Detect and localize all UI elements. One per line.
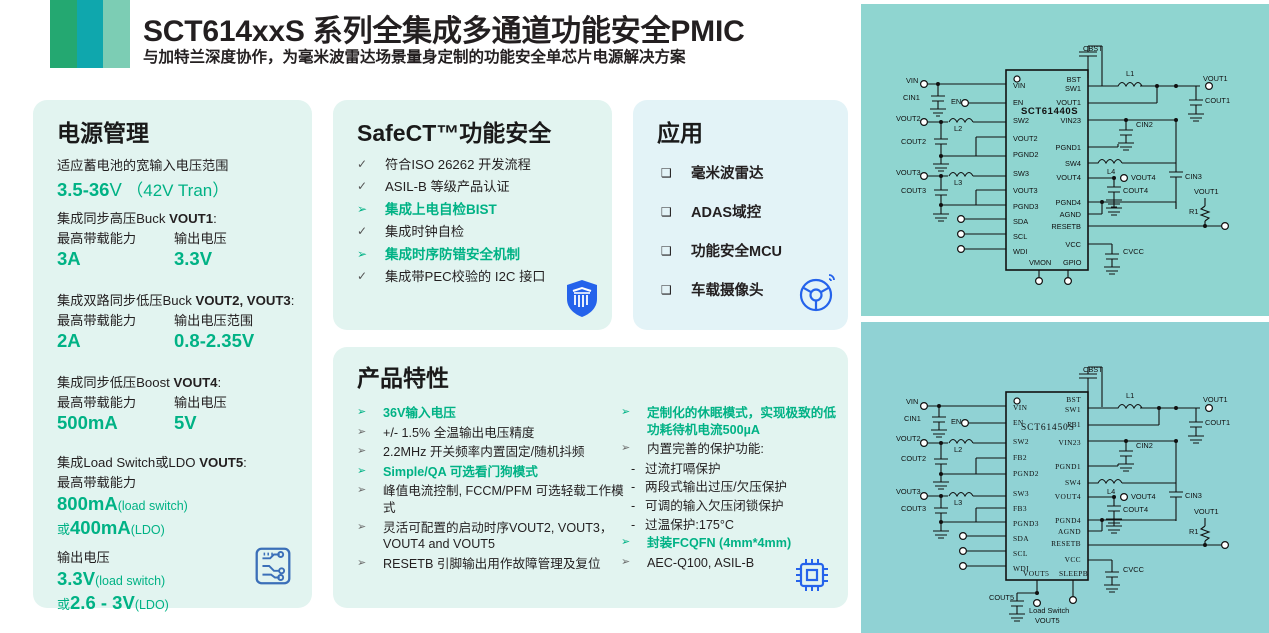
list-item[interactable]: ➢定制化的休眠模式，实现极致的低功耗待机电流500µA — [621, 405, 843, 438]
power-block-vout23-heading-tail: : — [291, 293, 295, 308]
svg-text:VCC: VCC — [1065, 555, 1081, 564]
svg-text:VIN: VIN — [906, 76, 918, 85]
power-vout1-col1-value: 3A — [57, 248, 174, 270]
sub-item-label: 过温保护:175°C — [645, 517, 734, 534]
svg-text:COUT4: COUT4 — [1123, 505, 1148, 514]
power-vout23-col2-value: 0.8-2.35V — [174, 330, 304, 352]
list-item-marker-icon: ✓ — [357, 223, 385, 239]
power-vout5-voltage-2-prefix: 或 — [57, 597, 70, 612]
svg-text:PGND4: PGND4 — [1055, 516, 1081, 525]
svg-text:VOUT1: VOUT1 — [1194, 187, 1219, 196]
sub-item-label: 可调的输入欠压闭锁保护 — [645, 498, 784, 515]
list-item-marker-icon: ➢ — [357, 405, 383, 420]
power-block-vout1-heading-tail: : — [213, 211, 217, 226]
svg-text:VOUT3: VOUT3 — [896, 168, 921, 177]
chip-icon — [792, 555, 832, 600]
list-item-marker-icon: ➢ — [621, 555, 647, 570]
power-vout5-current-1-value: 800mA — [57, 493, 118, 514]
power-block-vout5-heading-tail: : — [243, 455, 247, 470]
svg-text:SW4: SW4 — [1065, 159, 1081, 168]
list-item-marker-icon: ➢ — [621, 405, 647, 420]
power-vout5-current-2: 或400mA(LDO) — [57, 517, 307, 539]
svg-text:VOUT1: VOUT1 — [1056, 98, 1081, 107]
power-vout5-voltage-2-value: 2.6 - 3V — [70, 592, 135, 613]
power-vout5-current-1-note: (load switch) — [118, 499, 188, 513]
power-input-range-unit: V — [109, 179, 121, 200]
power-vout5-voltage-1-note: (load switch) — [95, 574, 165, 588]
list-item-marker-icon: ✓ — [357, 156, 385, 172]
sub-item-marker: - — [631, 461, 645, 478]
list-item[interactable]: ➢集成时序防错安全机制 — [357, 246, 597, 264]
svg-text:COUT4: COUT4 — [1123, 186, 1148, 195]
list-item-label: 2.2MHz 开关频率内置固定/随机抖频 — [383, 444, 585, 461]
power-block-vout4: 集成同步低压Boost VOUT4: 最高带载能力 输出电压 500mA 5V — [57, 372, 307, 434]
page-title: SCT614xxS 系列全集成多通道功能安全PMIC — [143, 6, 843, 50]
power-block-vout23-heading: 集成双路同步低压Buck VOUT2, VOUT3: — [57, 290, 307, 309]
list-item[interactable]: ❑功能安全MCU — [661, 240, 841, 261]
svg-text:L4: L4 — [1107, 487, 1115, 496]
svg-text:COUT1: COUT1 — [1205, 418, 1230, 427]
list-item-label: 灵活可配置的启动时序VOUT2, VOUT3，VOUT4 and VOUT5 — [383, 520, 625, 553]
safect-list: ✓符合ISO 26262 开发流程✓ASIL-B 等级产品认证➢集成上电自检BI… — [357, 156, 597, 291]
list-item-label: 集成上电自检BIST — [385, 201, 497, 219]
schematic-sct61440s: SCT61440S VIN EN SW2 VOUT2 PGND2 SW3 VOU… — [861, 4, 1269, 316]
power-vout5-current-2-note: (LDO) — [131, 523, 165, 537]
list-item-marker-icon: ❑ — [661, 205, 691, 219]
list-item[interactable]: ❑ADAS域控 — [661, 201, 841, 222]
svg-text:CIN1: CIN1 — [904, 414, 921, 423]
svg-text:FB3: FB3 — [1013, 504, 1027, 513]
list-item[interactable]: ➢RESETB 引脚输出用作故障管理及复位 — [357, 556, 625, 573]
accent-bar-1 — [50, 0, 77, 68]
power-block-vout5-heading-bold: VOUT5 — [199, 455, 243, 470]
svg-text:COUT2: COUT2 — [901, 137, 926, 146]
list-item[interactable]: ✓符合ISO 26262 开发流程 — [357, 156, 597, 174]
svg-text:SCL: SCL — [1013, 232, 1027, 241]
svg-text:EN: EN — [951, 417, 961, 426]
power-block-vout4-heading-bold: VOUT4 — [174, 375, 218, 390]
power-vout4-col1-value: 500mA — [57, 412, 174, 434]
list-item[interactable]: ➢封装FCQFN (4mm*4mm) — [621, 535, 843, 552]
list-item-marker-icon: ✓ — [357, 178, 385, 194]
svg-text:L3: L3 — [954, 178, 962, 187]
svg-text:FB1: FB1 — [1067, 420, 1081, 429]
features-panel-title: 产品特性 — [357, 359, 449, 393]
list-item[interactable]: ➢2.2MHz 开关频率内置固定/随机抖频 — [357, 444, 625, 461]
list-item[interactable]: ➢36V输入电压 — [357, 405, 625, 422]
svg-text:GPIO: GPIO — [1063, 258, 1082, 267]
svg-text:PGND2: PGND2 — [1013, 150, 1038, 159]
list-item-label: ASIL-B 等级产品认证 — [385, 178, 510, 196]
list-item-label: Simple/QA 可选看门狗模式 — [383, 464, 538, 481]
svg-text:VOUT4: VOUT4 — [1131, 492, 1156, 501]
svg-text:VOUT2: VOUT2 — [896, 114, 921, 123]
power-block-vout1-heading-bold: VOUT1 — [169, 211, 213, 226]
svg-text:VIN: VIN — [906, 397, 918, 406]
svg-text:SW2: SW2 — [1013, 116, 1029, 125]
svg-text:EN: EN — [1013, 98, 1023, 107]
power-input-range-value-row: 3.5-36V （42V Tran） — [57, 176, 307, 201]
power-vout5-current-2-prefix: 或 — [57, 522, 70, 537]
power-input-range-block: 适应蓄电池的宽输入电压范围 3.5-36V （42V Tran） — [57, 155, 307, 201]
panel-safect-functional-safety: SafeCT™功能安全 ✓符合ISO 26262 开发流程✓ASIL-B 等级产… — [333, 100, 612, 330]
power-vout1-col1-label: 最高带载能力 — [57, 228, 174, 247]
list-item-marker-icon: ✓ — [357, 268, 385, 284]
svg-text:VMON: VMON — [1029, 258, 1051, 267]
features-right-list: ➢定制化的休眠模式，实现极致的低功耗待机电流500µA➢内置完善的保护功能:-过… — [621, 405, 843, 571]
svg-text:VOUT2: VOUT2 — [896, 434, 921, 443]
svg-text:R1: R1 — [1189, 527, 1198, 536]
list-item[interactable]: ➢内置完善的保护功能: — [621, 441, 843, 458]
svg-text:COUT1: COUT1 — [1205, 96, 1230, 105]
svg-text:VOUT1: VOUT1 — [1203, 74, 1228, 83]
power-vout23-col1-label: 最高带载能力 — [57, 310, 174, 329]
features-right-column: ➢定制化的休眠模式，实现极致的低功耗待机电流500µA➢内置完善的保护功能:-过… — [621, 405, 843, 574]
sub-list-item: -可调的输入欠压闭锁保护 — [631, 498, 843, 515]
svg-text:VOUT3: VOUT3 — [896, 487, 921, 496]
sub-item-label: 两段式输出过压/欠压保护 — [645, 479, 787, 496]
svg-text:SW1: SW1 — [1065, 405, 1081, 414]
list-item-marker-icon: ➢ — [357, 444, 383, 459]
svg-text:SDA: SDA — [1013, 217, 1028, 226]
power-block-vout5-heading-plain: 集成Load Switch或LDO — [57, 455, 199, 470]
svg-text:SCL: SCL — [1013, 549, 1028, 558]
list-item-label: 毫米波雷达 — [691, 162, 764, 183]
panel-product-features: 产品特性 ➢36V输入电压➢+/- 1.5% 全温输出电压精度➢2.2MHz 开… — [333, 347, 848, 608]
svg-text:SW3: SW3 — [1013, 489, 1029, 498]
list-item-marker-icon: ➢ — [357, 425, 383, 440]
svg-text:SDA: SDA — [1013, 534, 1029, 543]
svg-text:CVCC: CVCC — [1123, 247, 1145, 256]
list-item[interactable]: ➢+/- 1.5% 全温输出电压精度 — [357, 425, 625, 442]
list-item[interactable]: ❑毫米波雷达 — [661, 162, 841, 183]
list-item[interactable]: ✓集成带PEC校验的 I2C 接口 — [357, 268, 597, 286]
list-item-label: 封装FCQFN (4mm*4mm) — [647, 535, 791, 552]
svg-text:CVCC: CVCC — [1123, 565, 1145, 574]
svg-text:VOUT4: VOUT4 — [1056, 173, 1081, 182]
features-left-list: ➢36V输入电压➢+/- 1.5% 全温输出电压精度➢2.2MHz 开关频率内置… — [357, 405, 625, 572]
svg-text:VOUT4: VOUT4 — [1055, 492, 1081, 501]
power-block-vout23: 集成双路同步低压Buck VOUT2, VOUT3: 最高带载能力 输出电压范围… — [57, 290, 307, 352]
accent-bar-3 — [103, 0, 130, 68]
svg-text:CIN3: CIN3 — [1185, 491, 1202, 500]
power-vout5-voltage-2-note: (LDO) — [135, 598, 169, 612]
power-input-range-label: 适应蓄电池的宽输入电压范围 — [57, 155, 307, 174]
svg-text:VOUT5: VOUT5 — [1035, 616, 1060, 625]
list-item-marker-icon: ❑ — [661, 283, 691, 297]
svg-text:COUT2: COUT2 — [901, 454, 926, 463]
list-item-label: +/- 1.5% 全温输出电压精度 — [383, 425, 535, 442]
svg-text:VIN: VIN — [1013, 81, 1025, 90]
panel-power-management: 电源管理 适应蓄电池的宽输入电压范围 3.5-36V （42V Tran） 集成… — [33, 100, 312, 608]
sub-item-marker: - — [631, 517, 645, 534]
svg-text:RESETB: RESETB — [1051, 222, 1081, 231]
list-item-label: 符合ISO 26262 开发流程 — [385, 156, 531, 174]
power-vout1-col2-value: 3.3V — [174, 248, 304, 270]
list-item-label: ADAS域控 — [691, 201, 761, 222]
list-item-marker-icon: ➢ — [357, 201, 385, 217]
list-item-marker-icon: ➢ — [621, 441, 647, 456]
sub-list-item: - 过温保护:175°C — [631, 517, 843, 534]
list-item-marker-icon: ➢ — [357, 556, 383, 571]
list-item[interactable]: ➢集成上电自检BIST — [357, 201, 597, 219]
svg-text:PGND4: PGND4 — [1056, 198, 1081, 207]
svg-text:PGND3: PGND3 — [1013, 519, 1039, 528]
list-item-label: 内置完善的保护功能: — [647, 441, 764, 458]
svg-text:AGND: AGND — [1060, 210, 1081, 219]
svg-text:VIN: VIN — [1013, 403, 1028, 412]
power-vout5-current-2-value: 400mA — [70, 517, 131, 538]
svg-text:L2: L2 — [954, 124, 962, 133]
svg-text:BST: BST — [1066, 395, 1081, 404]
safect-panel-title: SafeCT™功能安全 — [357, 114, 551, 148]
list-item-label: 集成时钟自检 — [385, 223, 464, 241]
list-item-label: 峰值电流控制, FCCM/PFM 可选轻载工作模式 — [383, 483, 625, 516]
svg-text:EN: EN — [1013, 418, 1024, 427]
svg-text:CBST: CBST — [1083, 365, 1103, 374]
power-vout5-voltage-1-value: 3.3V — [57, 568, 95, 589]
schematic-sct61450s: SCT61450S VIN EN SW2 FB2 PGND2 SW3 FB3 P… — [861, 322, 1269, 633]
list-item[interactable]: ✓ASIL-B 等级产品认证 — [357, 178, 597, 196]
svg-text:PGND2: PGND2 — [1013, 469, 1039, 478]
steering-wheel-icon — [796, 271, 840, 320]
power-vout4-col2-value: 5V — [174, 412, 304, 434]
list-item-label: RESETB 引脚输出用作故障管理及复位 — [383, 556, 601, 573]
power-vout5-voltage-2: 或2.6 - 3V(LDO) — [57, 592, 307, 614]
list-item-marker-icon: ➢ — [357, 246, 385, 262]
power-input-range-note: （42V Tran） — [126, 181, 229, 200]
power-input-range-value: 3.5-36 — [57, 179, 109, 200]
svg-text:L1: L1 — [1126, 69, 1134, 78]
sub-list: -过流打嗝保护-两段式输出过压/欠压保护-可调的输入欠压闭锁保护- 过温保护:1… — [631, 461, 843, 533]
list-item-label: 功能安全MCU — [691, 240, 782, 261]
power-block-vout23-heading-bold: VOUT2, VOUT3 — [195, 293, 290, 308]
svg-text:R1: R1 — [1189, 207, 1198, 216]
svg-text:VOUT4: VOUT4 — [1131, 173, 1156, 182]
list-item-marker-icon: ➢ — [357, 483, 383, 498]
power-block-vout4-heading-plain: 集成同步低压Boost — [57, 375, 174, 390]
power-block-vout5-heading: 集成Load Switch或LDO VOUT5: — [57, 452, 307, 471]
sub-item-marker: - — [631, 479, 645, 496]
svg-text:VOUT3: VOUT3 — [1013, 186, 1038, 195]
list-item-label: 集成时序防错安全机制 — [385, 246, 520, 264]
svg-text:EN: EN — [951, 97, 961, 106]
svg-text:VOUT2: VOUT2 — [1013, 134, 1038, 143]
svg-text:CIN3: CIN3 — [1185, 172, 1202, 181]
power-vout1-col2-label: 输出电压 — [174, 228, 304, 247]
list-item-marker-icon: ➢ — [357, 464, 383, 479]
list-item-marker-icon: ➢ — [357, 520, 383, 535]
power-block-vout1-heading-plain: 集成同步高压Buck — [57, 211, 169, 226]
svg-text:CIN2: CIN2 — [1136, 120, 1153, 129]
list-item-marker-icon: ❑ — [661, 166, 691, 180]
svg-text:PGND3: PGND3 — [1013, 202, 1038, 211]
svg-text:CIN1: CIN1 — [903, 93, 920, 102]
list-item[interactable]: ➢灵活可配置的启动时序VOUT2, VOUT3，VOUT4 and VOUT5 — [357, 520, 625, 553]
sub-item-marker: - — [631, 498, 645, 515]
svg-text:VIN23: VIN23 — [1060, 116, 1081, 125]
svg-text:L4: L4 — [1107, 167, 1115, 176]
accent-bar-2 — [77, 0, 103, 68]
power-block-vout4-heading-tail: : — [217, 375, 221, 390]
list-item-label: 36V输入电压 — [383, 405, 456, 422]
svg-text:RESETB: RESETB — [1051, 539, 1081, 548]
power-panel-title: 电源管理 — [57, 114, 149, 148]
svg-text:CIN2: CIN2 — [1136, 441, 1153, 450]
page-subtitle: 与加特兰深度协作，为毫米波雷达场景量身定制的功能安全单芯片电源解决方案 — [143, 45, 903, 67]
power-block-vout1: 集成同步高压Buck VOUT1: 最高带载能力 输出电压 3A 3.3V — [57, 208, 307, 270]
svg-text:BST: BST — [1067, 75, 1082, 84]
svg-text:SW4: SW4 — [1065, 478, 1081, 487]
power-vout23-col2-label: 输出电压范围 — [174, 310, 304, 329]
list-item-label: 车载摄像头 — [691, 279, 764, 300]
list-item-marker-icon: ➢ — [621, 535, 647, 550]
power-vout4-col1-label: 最高带载能力 — [57, 392, 174, 411]
svg-text:VOUT1: VOUT1 — [1194, 507, 1219, 516]
sub-item-label: 过流打嗝保护 — [645, 461, 721, 478]
power-vout4-col2-label: 输出电压 — [174, 392, 304, 411]
svg-text:VOUT5: VOUT5 — [1023, 569, 1049, 578]
svg-text:FB2: FB2 — [1013, 453, 1027, 462]
power-vout23-col1-value: 2A — [57, 330, 174, 352]
header-accent-bars — [50, 0, 130, 68]
list-item-label: 集成带PEC校验的 I2C 接口 — [385, 268, 545, 286]
list-item-marker-icon: ❑ — [661, 244, 691, 258]
svg-text:SLEEPB: SLEEPB — [1059, 569, 1088, 578]
power-vout5-current-label: 最高带载能力 — [57, 472, 307, 491]
svg-text:VIN23: VIN23 — [1058, 438, 1081, 447]
svg-text:PGND1: PGND1 — [1056, 143, 1081, 152]
svg-text:COUT3: COUT3 — [901, 186, 926, 195]
svg-text:L3: L3 — [954, 498, 962, 507]
shield-icon — [562, 277, 602, 324]
svg-text:COUT5: COUT5 — [989, 593, 1014, 602]
sub-list-item: -两段式输出过压/欠压保护 — [631, 479, 843, 496]
power-block-vout23-heading-plain: 集成双路同步低压Buck — [57, 293, 195, 308]
power-vout5-current-1: 800mA(load switch) — [57, 493, 307, 515]
panel-applications: 应用 ❑毫米波雷达❑ADAS域控❑功能安全MCU❑车载摄像头 — [633, 100, 848, 330]
svg-text:AGND: AGND — [1058, 527, 1081, 536]
svg-text:SW2: SW2 — [1013, 437, 1029, 446]
list-item-label: 定制化的休眠模式，实现极致的低功耗待机电流500µA — [647, 405, 843, 438]
features-left-column: ➢36V输入电压➢+/- 1.5% 全温输出电压精度➢2.2MHz 开关频率内置… — [357, 405, 625, 575]
svg-text:VOUT1: VOUT1 — [1203, 395, 1228, 404]
svg-text:VCC: VCC — [1065, 240, 1081, 249]
svg-text:PGND1: PGND1 — [1055, 462, 1081, 471]
svg-text:SW3: SW3 — [1013, 169, 1029, 178]
svg-text:COUT3: COUT3 — [901, 504, 926, 513]
list-item[interactable]: ➢峰值电流控制, FCCM/PFM 可选轻载工作模式 — [357, 483, 625, 516]
pcb-board-icon — [250, 543, 296, 594]
svg-text:Load Switch: Load Switch — [1029, 606, 1069, 615]
list-item[interactable]: ➢Simple/QA 可选看门狗模式 — [357, 464, 625, 481]
svg-text:L1: L1 — [1126, 391, 1134, 400]
list-item[interactable]: ✓集成时钟自检 — [357, 223, 597, 241]
svg-text:SW1: SW1 — [1065, 84, 1081, 93]
power-block-vout1-heading: 集成同步高压Buck VOUT1: — [57, 208, 307, 227]
sub-list-item: -过流打嗝保护 — [631, 461, 843, 478]
power-block-vout4-heading: 集成同步低压Boost VOUT4: — [57, 372, 307, 391]
list-item-label: AEC-Q100, ASIL-B — [647, 555, 754, 572]
svg-text:WDI: WDI — [1013, 247, 1027, 256]
svg-text:L2: L2 — [954, 445, 962, 454]
apps-panel-title: 应用 — [657, 114, 703, 148]
